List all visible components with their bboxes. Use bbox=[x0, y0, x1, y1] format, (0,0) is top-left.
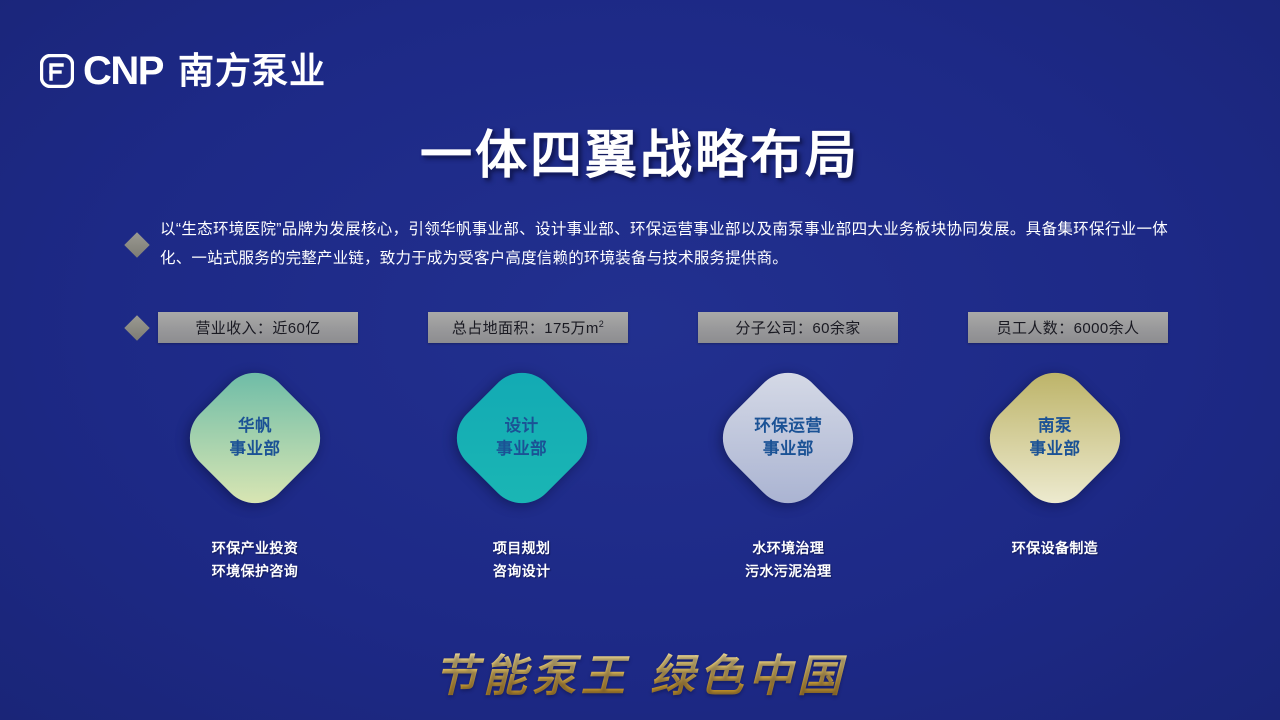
pillar-label-line2: 事业部 bbox=[230, 440, 281, 458]
pillar-label-line2: 事业部 bbox=[496, 440, 547, 458]
pillar-caption-design: 项目规划 咨询设计 bbox=[493, 537, 551, 583]
pillar-label-design: 设计 事业部 bbox=[496, 415, 547, 460]
stats-block: 营业收入：近60亿 总占地面积：175万m2 分子公司：60余家 员工人数：60… bbox=[128, 312, 1168, 343]
pillar-label-env-operation: 环保运营 事业部 bbox=[754, 415, 822, 460]
pillar-huafan[interactable]: 华帆 事业部 环保产业投资 环境保护咨询 bbox=[150, 360, 360, 583]
pillar-label-line1: 南泵 bbox=[1038, 417, 1072, 435]
pillar-label-line1: 华帆 bbox=[238, 417, 272, 435]
diamond-bullet-icon bbox=[124, 315, 149, 340]
brand-latin-name: CNP bbox=[83, 51, 163, 91]
pillars-row: 华帆 事业部 环保产业投资 环境保护咨询 设计 事业部 项目规划 咨询设计 bbox=[150, 360, 1160, 583]
stat-badge-area: 总占地面积：175万m2 bbox=[428, 312, 628, 343]
pillar-design[interactable]: 设计 事业部 项目规划 咨询设计 bbox=[417, 360, 627, 583]
brand-logo: CNP 南方泵业 bbox=[40, 48, 326, 94]
caption-line1: 环保设备制造 bbox=[1012, 540, 1098, 556]
diamond-bullet-icon bbox=[124, 232, 149, 257]
caption-line1: 水环境治理 bbox=[752, 540, 824, 556]
caption-line2: 污水污泥治理 bbox=[745, 563, 831, 579]
pillar-shape-env-operation[interactable]: 环保运营 事业部 bbox=[711, 360, 866, 515]
stats-list: 营业收入：近60亿 总占地面积：175万m2 分子公司：60余家 员工人数：60… bbox=[158, 312, 1168, 343]
stat-badge-subsidiaries: 分子公司：60余家 bbox=[698, 312, 898, 343]
footer-slogan: 节能泵王 绿色中国 bbox=[0, 640, 1280, 704]
pillar-shape-design[interactable]: 设计 事业部 bbox=[444, 360, 599, 515]
caption-line1: 项目规划 bbox=[493, 540, 551, 556]
pillar-label-nanbeng: 南泵 事业部 bbox=[1029, 415, 1080, 460]
caption-line1: 环保产业投资 bbox=[212, 540, 298, 556]
page-title: 一体四翼战略布局 bbox=[0, 127, 1280, 187]
stat-badge-employees: 员工人数：6000余人 bbox=[968, 312, 1168, 343]
pillar-caption-env-operation: 水环境治理 污水污泥治理 bbox=[745, 537, 831, 583]
pillar-shape-nanbeng[interactable]: 南泵 事业部 bbox=[977, 360, 1132, 515]
pillar-caption-nanbeng: 环保设备制造 bbox=[1012, 537, 1098, 560]
slide-canvas: CNP 南方泵业 一体四翼战略布局 以“生态环境医院”品牌为发展核心，引领华帆事… bbox=[0, 0, 1280, 720]
pillar-env-operation[interactable]: 环保运营 事业部 水环境治理 污水污泥治理 bbox=[683, 360, 893, 583]
pillar-label-line1: 环保运营 bbox=[754, 417, 822, 435]
caption-line2: 环境保护咨询 bbox=[212, 563, 298, 579]
pillar-label-line1: 设计 bbox=[505, 417, 539, 435]
stat-badge-revenue: 营业收入：近60亿 bbox=[158, 312, 358, 343]
cnp-pump-mark-icon bbox=[40, 54, 74, 88]
intro-block: 以“生态环境医院”品牌为发展核心，引领华帆事业部、设计事业部、环保运营事业部以及… bbox=[128, 216, 1168, 273]
pillar-nanbeng[interactable]: 南泵 事业部 环保设备制造 bbox=[950, 360, 1160, 583]
pillar-caption-huafan: 环保产业投资 环境保护咨询 bbox=[212, 537, 298, 583]
pillar-label-line2: 事业部 bbox=[763, 440, 814, 458]
intro-paragraph: 以“生态环境医院”品牌为发展核心，引领华帆事业部、设计事业部、环保运营事业部以及… bbox=[160, 216, 1168, 273]
caption-line2: 咨询设计 bbox=[493, 563, 551, 579]
pillar-label-line2: 事业部 bbox=[1029, 440, 1080, 458]
pillar-shape-huafan[interactable]: 华帆 事业部 bbox=[178, 360, 333, 515]
brand-chinese-name: 南方泵业 bbox=[178, 53, 326, 89]
pillar-label-huafan: 华帆 事业部 bbox=[230, 415, 281, 460]
